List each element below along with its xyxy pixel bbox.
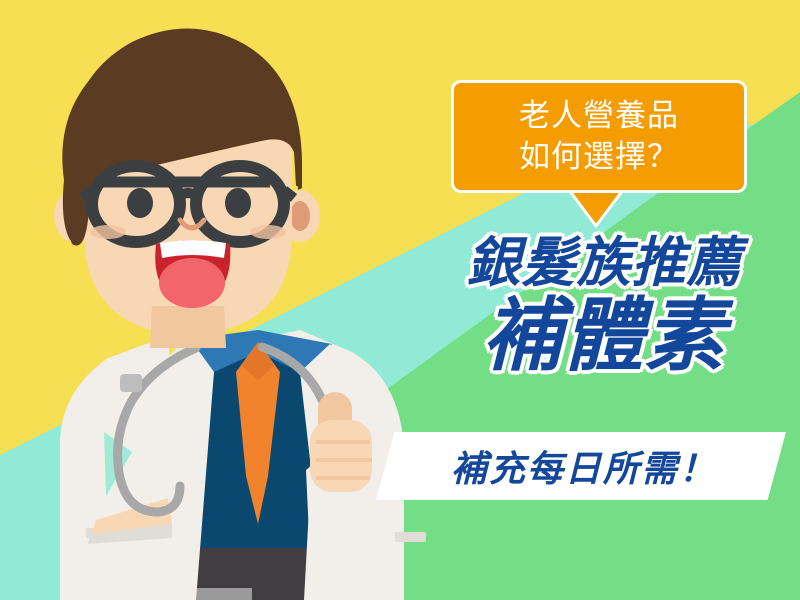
speech-bubble[interactable]: 老人營養品 如何選擇？ xyxy=(451,80,747,193)
tagline-text: 補充每日所需！ xyxy=(376,432,786,500)
headline: 銀髮族推薦 補體素 xyxy=(418,236,790,376)
tagline-banner: 補充每日所需！ xyxy=(376,432,786,500)
promo-banner: 老人營養品 如何選擇？ 銀髮族推薦 補體素 補充每日所需！ xyxy=(0,0,800,600)
speech-bubble-line-2: 如何選擇？ xyxy=(519,137,679,178)
speech-bubble-line-1: 老人營養品 xyxy=(519,96,679,137)
headline-line-1: 銀髮族推薦 xyxy=(418,236,790,290)
speech-bubble-text: 老人營養品 如何選擇？ xyxy=(454,83,744,190)
headline-line-2: 補體素 xyxy=(418,296,790,376)
